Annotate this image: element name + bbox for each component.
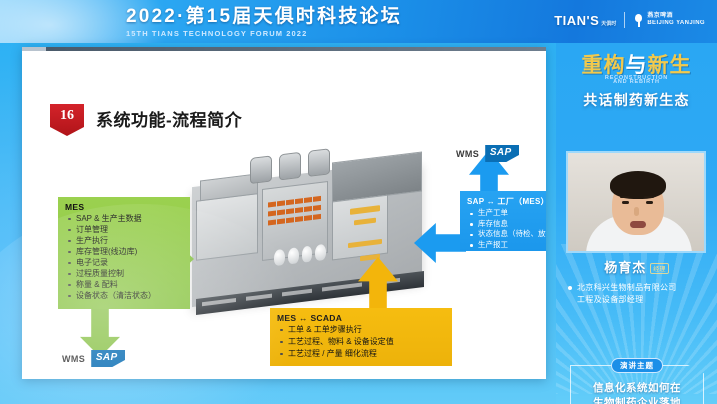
mes-item: 生产执行: [65, 235, 184, 246]
partner-logo: 燕京啤酒 BEIJING YANJING: [633, 13, 705, 27]
speaker-info: 杨育杰 经理 北京科兴生物制品有限公司 工程及设备部经理: [556, 257, 717, 306]
tians-logo-text: TIAN'S: [554, 13, 599, 28]
speaker-eye-right: [646, 201, 653, 204]
sap-item: 状态信息（待检、放行）: [467, 229, 546, 240]
sap-item: 生产报工: [467, 240, 546, 251]
speaker-eye-left: [622, 201, 629, 204]
scada-item: 工艺过程 / 产量 细化流程: [277, 348, 446, 360]
sap-info-box: SAP ↔ 工厂（MES） 生产工单 库存信息 状态信息（待检、放行） 生产报工: [460, 191, 546, 251]
keyvisual-en-right: AND REBIRTH: [556, 79, 717, 85]
partner-logo-line2: BEIJING YANJING: [647, 20, 705, 27]
rack-unit: [268, 219, 276, 225]
speaker-rail: 重构与新生 RECONSTRUCTION AND REBIRTH 共话制药新生态…: [556, 43, 717, 404]
factory-vessels: [274, 230, 326, 266]
keyvisual-word-1: 重构: [582, 53, 626, 77]
slide-topbar: [46, 47, 546, 51]
vessel-unit: [315, 244, 326, 261]
webinar-page: 2022·第15届天俱时科技论坛 15TH TIANS TECHNOLOGY F…: [0, 0, 717, 404]
sap-logo-bottom-icon: SAP: [91, 350, 125, 367]
event-subtitle: 15TH TIANS TECHNOLOGY FORUM 2022: [126, 29, 416, 39]
mes-item: 库存管理(线边库): [65, 246, 184, 257]
wms-sap-bottom: WMS SAP: [62, 350, 125, 367]
tank-unit: [279, 152, 301, 181]
brand-logos: TIAN'S 天俱时 燕京啤酒 BEIJING YANJING: [554, 12, 705, 28]
slide-title: 系统功能-流程简介: [96, 106, 242, 131]
factory-room-prep: [196, 193, 258, 261]
keyvisual-word-2: 与: [626, 53, 648, 77]
vessel-unit: [288, 247, 299, 264]
topic-text: 信息化系统如何在 生物制药企业落地: [570, 381, 704, 404]
partner-logo-text-block: 燕京啤酒 BEIJING YANJING: [647, 13, 705, 27]
topic-line-2: 生物制药企业落地: [570, 396, 704, 404]
mes-item: 过程质量控制: [65, 268, 184, 279]
wms-top-label: WMS: [456, 149, 479, 159]
wms-sap-top: WMS SAP: [456, 145, 519, 162]
speaker-name-row: 杨育杰 经理: [604, 257, 669, 276]
speaker-eyebrow-left: [620, 196, 630, 198]
rack-unit: [268, 201, 276, 207]
partner-mark-icon: [633, 14, 644, 27]
speaker-video[interactable]: [566, 151, 706, 253]
speaker-title-tag: 经理: [650, 263, 669, 274]
banner-title-block: 2022·第15届天俱时科技论坛 15TH TIANS TECHNOLOGY F…: [126, 6, 416, 38]
scada-item: 工艺过程、物料 & 设备设定值: [277, 336, 446, 348]
event-title: 2022·第15届天俱时科技论坛: [126, 6, 416, 28]
sap-logo-top-text: SAP: [490, 147, 512, 158]
slide-number: 16: [60, 108, 74, 124]
mes-item: 称量 & 配料: [65, 279, 184, 290]
keyvisual-main: 重构与新生: [556, 53, 717, 77]
mes-item: SAP & 生产主数据: [65, 213, 184, 224]
rack-unit: [286, 199, 294, 205]
slide-number-badge: 16: [50, 104, 84, 136]
sap-item: 库存信息: [467, 219, 546, 230]
topic-line-1: 信息化系统如何在: [570, 381, 704, 396]
mes-box-title: MES: [65, 202, 184, 212]
rack-unit: [295, 198, 303, 204]
rack-unit: [268, 210, 276, 216]
rack-unit: [313, 214, 321, 220]
rack-unit: [277, 209, 285, 215]
slide-topbar-left-cap: [22, 47, 46, 51]
tank-unit: [250, 155, 272, 184]
topic-caption: 演讲主题: [611, 358, 663, 373]
speaker-role: 工程及设备部经理: [568, 294, 717, 306]
rack-unit: [295, 216, 303, 222]
tians-logo: TIAN'S 天俱时: [554, 13, 616, 28]
tians-logo-cn: 天俱时: [601, 20, 616, 27]
mes-info-box: MES SAP & 生产主数据 订单管理 生产执行 库存管理(线边库) 电子记录…: [58, 197, 190, 309]
event-keyvisual: 重构与新生 RECONSTRUCTION AND REBIRTH 共话制药新生态: [556, 53, 717, 145]
vessel-unit: [302, 245, 313, 262]
presentation-slide[interactable]: 16 系统功能-流程简介: [22, 47, 546, 379]
sap-box-title: SAP ↔ 工厂（MES）: [467, 196, 546, 207]
speaker-affiliation: 北京科兴生物制品有限公司 工程及设备部经理: [556, 282, 717, 306]
vessel-unit: [274, 249, 285, 266]
rack-unit: [286, 217, 294, 223]
rack-unit: [277, 218, 285, 224]
speaker-name: 杨育杰: [604, 257, 646, 276]
rack-unit: [295, 207, 303, 213]
scada-item: 工单 & 工单步骤执行: [277, 324, 446, 336]
speaker-eyebrow-right: [644, 196, 654, 198]
rack-unit: [304, 215, 312, 221]
speaker-hair: [610, 171, 666, 199]
sap-logo-bottom-text: SAP: [96, 352, 118, 363]
rack-unit: [313, 205, 321, 211]
mes-item: 设备状态（清洁状态）: [65, 290, 184, 301]
factory-illustration: [182, 145, 432, 315]
scada-box-list: 工单 & 工单步骤执行 工艺过程、物料 & 设备设定值 工艺过程 / 产量 细化…: [277, 324, 446, 360]
keyvisual-subtitle: 共话制药新生态: [556, 90, 717, 110]
rack-unit: [286, 208, 294, 214]
sap-logo-top-icon: SAP: [485, 145, 519, 162]
mes-box-list: SAP & 生产主数据 订单管理 生产执行 库存管理(线边库) 电子记录 过程质…: [65, 213, 184, 301]
rack-unit: [313, 196, 321, 202]
rack-unit: [304, 206, 312, 212]
speaker-organization: 北京科兴生物制品有限公司: [568, 282, 717, 294]
speaker-nose: [634, 207, 639, 216]
mes-item: 电子记录: [65, 257, 184, 268]
tank-unit: [308, 148, 330, 177]
rack-unit: [304, 197, 312, 203]
speech-topic-card: 演讲主题 信息化系统如何在 生物制药企业落地: [570, 365, 704, 404]
keyvisual-word-3: 新生: [648, 53, 692, 77]
event-banner: 2022·第15届天俱时科技论坛 15TH TIANS TECHNOLOGY F…: [0, 0, 717, 43]
sap-item: 生产工单: [467, 208, 546, 219]
scada-box-title: MES ↔ SCADA: [277, 313, 446, 323]
sap-box-list: 生产工单 库存信息 状态信息（待检、放行） 生产报工: [467, 208, 546, 250]
scada-info-box: MES ↔ SCADA 工单 & 工单步骤执行 工艺过程、物料 & 设备设定值 …: [270, 308, 452, 366]
rack-unit: [277, 200, 285, 206]
mes-item: 订单管理: [65, 224, 184, 235]
brand-divider: [624, 12, 625, 28]
wms-bottom-label: WMS: [62, 354, 85, 364]
speaker-mouth: [630, 221, 646, 228]
partner-logo-line1: 燕京啤酒: [647, 13, 705, 20]
